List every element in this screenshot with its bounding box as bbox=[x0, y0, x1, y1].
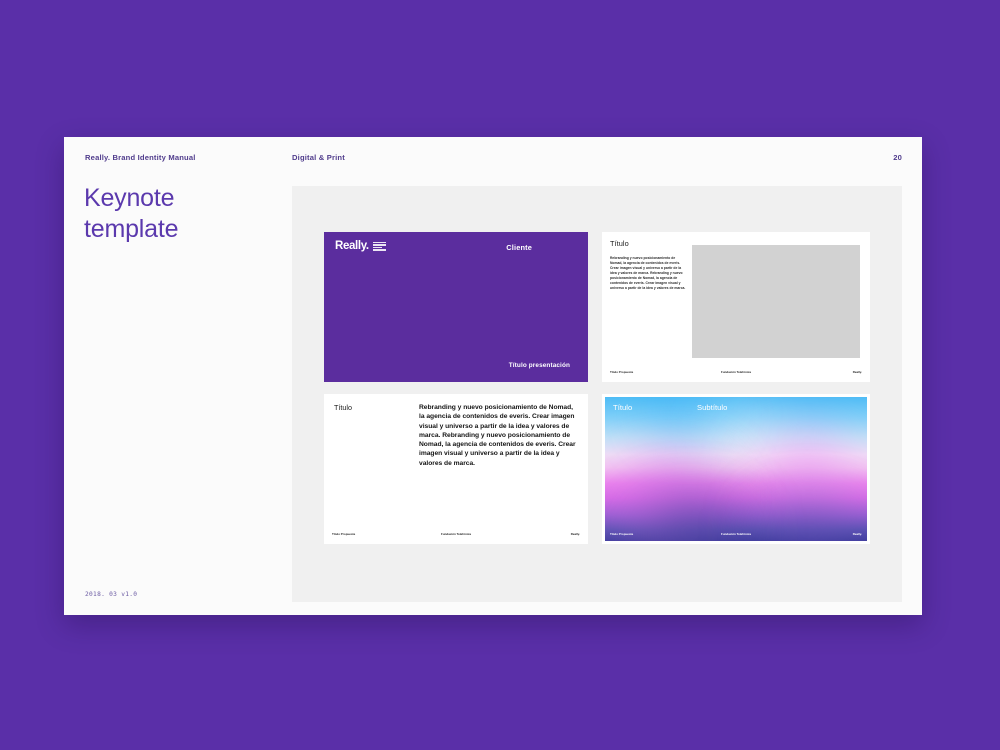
slide4-subtitle: Subtítulo bbox=[697, 403, 727, 412]
slide4-footer-right: Really. bbox=[853, 532, 862, 536]
really-wordmark: Really. bbox=[335, 241, 369, 253]
page-number: 20 bbox=[893, 153, 902, 162]
cover-presentation-label: Título presentación bbox=[509, 362, 570, 369]
slide-stage: Really. Cliente Título presentación Títu… bbox=[292, 186, 902, 602]
slide-thumbnail-cover[interactable]: Really. Cliente Título presentación bbox=[324, 232, 588, 382]
slide2-footer: Título Propuesta Fundación Telefónica Re… bbox=[602, 370, 870, 377]
slide-thumbnail-text-only[interactable]: Título Rebranding y nuevo posicionamient… bbox=[324, 394, 588, 544]
slide4-footer-center: Fundación Telefónica bbox=[721, 532, 751, 536]
slide4-footer-left: Título Propuesta bbox=[610, 532, 633, 536]
cover-client-label: Cliente bbox=[506, 243, 532, 252]
really-logo: Really. bbox=[335, 241, 386, 253]
slide2-footer-right: Really. bbox=[853, 370, 862, 374]
slide3-footer-right: Really. bbox=[571, 532, 580, 536]
slide3-body-text: Rebranding y nuevo posicionamiento de No… bbox=[419, 403, 577, 468]
slide3-footer-center: Fundación Telefónica bbox=[441, 532, 471, 536]
slide2-footer-center: Fundación Telefónica bbox=[721, 370, 751, 374]
slide3-footer: Título Propuesta Fundación Telefónica Re… bbox=[324, 532, 588, 539]
slide3-title: Título bbox=[334, 403, 352, 412]
gradient-artwork bbox=[605, 397, 867, 541]
slide2-body-text: Rebranding y nuevo posicionamiento de No… bbox=[610, 256, 686, 291]
cover-slide-surface: Really. Cliente Título presentación bbox=[324, 232, 588, 382]
version-stamp: 2018. 03 v1.0 bbox=[85, 591, 137, 598]
page-title-line-2: template bbox=[84, 214, 284, 245]
page-title: Keynote template bbox=[84, 183, 284, 244]
manual-page-card: Really. Brand Identity Manual Digital & … bbox=[64, 137, 922, 615]
page-meta-bar: Really. Brand Identity Manual Digital & … bbox=[64, 137, 922, 181]
slide2-image-placeholder bbox=[692, 245, 860, 358]
slide-thumbnail-gradient[interactable]: Título Subtítulo Título Propuesta Fundac… bbox=[602, 394, 870, 544]
slide-thumbnail-text-image[interactable]: Título Rebranding y nuevo posicionamient… bbox=[602, 232, 870, 382]
section-label: Digital & Print bbox=[292, 153, 345, 162]
manual-title-label: Really. Brand Identity Manual bbox=[85, 153, 196, 162]
page-title-line-1: Keynote bbox=[84, 183, 284, 214]
slide4-footer: Título Propuesta Fundación Telefónica Re… bbox=[602, 532, 870, 539]
slide2-title: Título bbox=[610, 239, 629, 248]
logo-lines-icon bbox=[373, 241, 386, 251]
slide3-footer-left: Título Propuesta bbox=[332, 532, 355, 536]
slide4-title: Título bbox=[613, 403, 632, 412]
slide2-footer-left: Título Propuesta bbox=[610, 370, 633, 374]
